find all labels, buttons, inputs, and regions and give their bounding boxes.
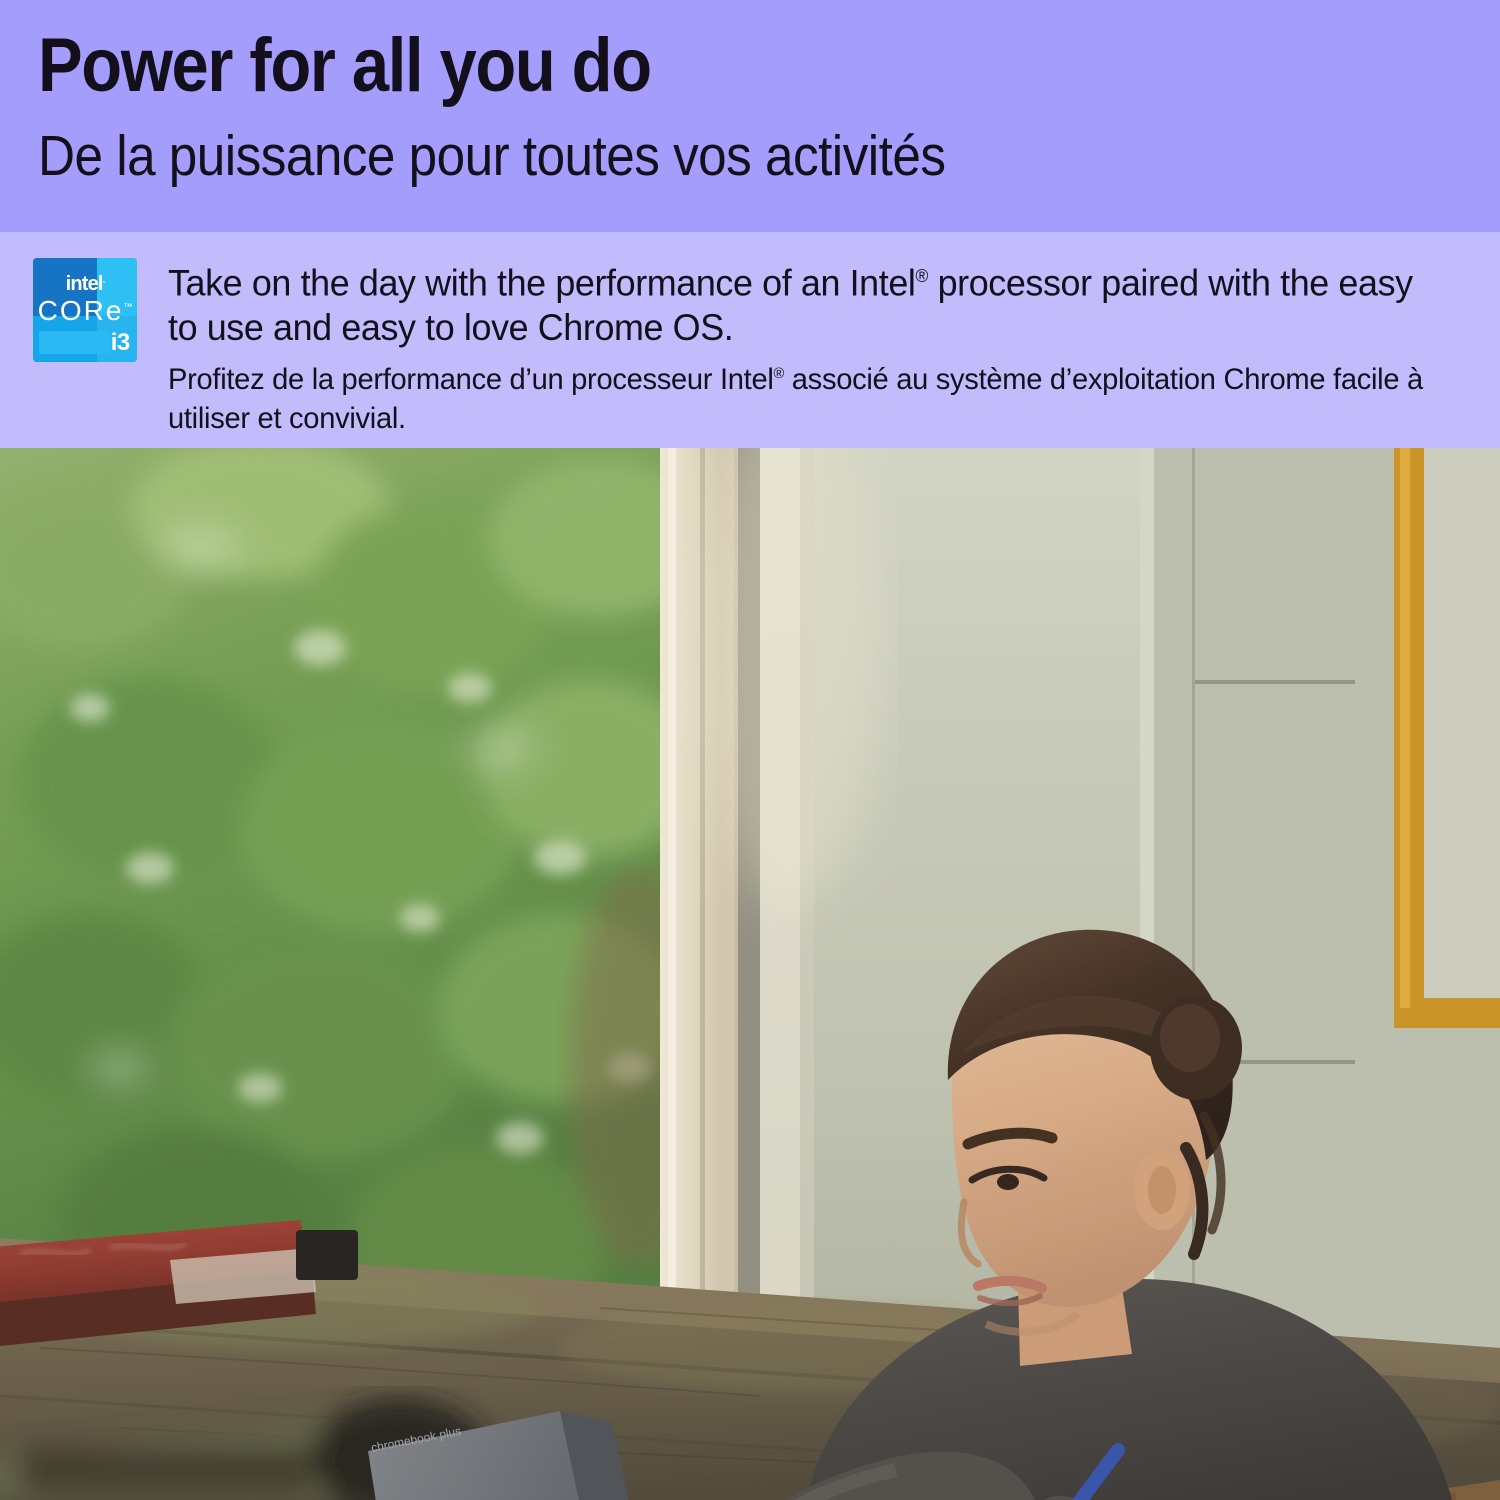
product-banner: Power for all you do De la puissance pou… [0, 0, 1500, 1500]
copy-english-line1-tail: processor [928, 262, 1092, 303]
badge-brand-dot: . [103, 274, 105, 284]
badge-tier-label: i3 [111, 329, 130, 357]
registered-mark-fr: ® [774, 365, 784, 382]
copy-french-line1: Profitez de la performance d’un processe… [168, 363, 774, 396]
copy-french: Profitez de la performance d’un processe… [168, 354, 1448, 438]
badge-brand-label: intel [66, 273, 103, 295]
badge-tm-mark: ™ [123, 302, 132, 312]
lifestyle-photograph: hp chromebook plus [0, 448, 1500, 1500]
badge-core-text: CORe™ [33, 295, 137, 327]
badge-core-label: CORe [38, 295, 124, 326]
headline-english: Power for all you do [38, 28, 651, 104]
registered-mark-en: ® [915, 266, 927, 286]
copy-band: intel. CORe™ i3 Take on the day with the… [0, 232, 1500, 448]
headline-french: De la puissance pour toutes vos activité… [38, 128, 945, 185]
badge-brand-text: intel. [33, 273, 137, 296]
copy-english-line1: Take on the day with the performance of … [168, 262, 915, 303]
copy-french-line1-tail: associé au système d’exploitation [784, 363, 1216, 396]
headline-band: Power for all you do De la puissance pou… [0, 0, 1500, 232]
badge-accent-strip [39, 331, 110, 354]
intel-core-i3-badge-icon: intel. CORe™ i3 [33, 258, 137, 362]
copy-english: Take on the day with the performance of … [168, 254, 1429, 350]
photo-illustration: hp chromebook plus [0, 448, 1500, 1500]
